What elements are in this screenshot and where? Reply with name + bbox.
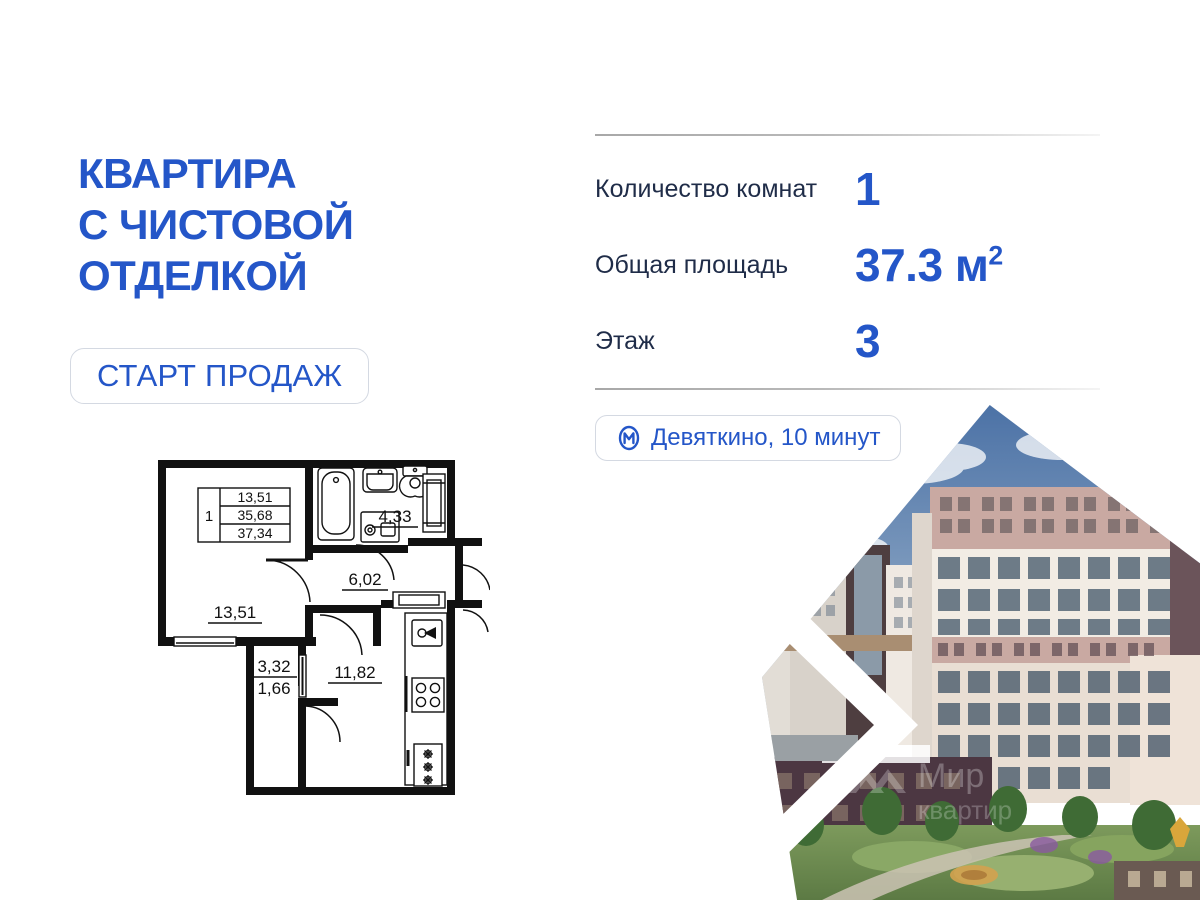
spec-value-rooms: 1 xyxy=(855,162,880,216)
spec-row-floor: Этаж 3 xyxy=(595,310,1100,372)
headline-line-2: С ЧИСТОВОЙ xyxy=(78,199,548,250)
spec-value-floor: 3 xyxy=(855,314,880,368)
metro-label: Девяткино, 10 минут xyxy=(651,424,880,452)
svg-text:4,33: 4,33 xyxy=(378,507,411,526)
area-unit-sup: 2 xyxy=(988,241,1002,271)
svg-text:37,34: 37,34 xyxy=(237,525,272,541)
headline-line-3: ОТДЕЛКОЙ xyxy=(78,250,548,301)
spec-value-area: 37.3 м2 xyxy=(855,238,1003,292)
spec-row-rooms: Количество комнат 1 xyxy=(595,158,1100,220)
metro-badge[interactable]: Девяткино, 10 минут xyxy=(595,415,901,461)
area-number: 37.3 xyxy=(855,239,943,291)
kitchen-vent-marks xyxy=(423,749,433,785)
headline-line-1: КВАРТИРА xyxy=(78,148,548,199)
svg-text:13,51: 13,51 xyxy=(237,489,272,505)
svg-text:1: 1 xyxy=(205,508,213,525)
spec-label-rooms: Количество комнат xyxy=(595,173,855,205)
divider-bottom xyxy=(595,388,1100,390)
svg-text:6,02: 6,02 xyxy=(348,570,381,589)
spec-row-area: Общая площадь 37.3 м2 xyxy=(595,234,1100,296)
spec-label-floor: Этаж xyxy=(595,325,855,357)
start-sales-badge[interactable]: СТАРТ ПРОДАЖ xyxy=(70,348,369,404)
page-title: КВАРТИРА С ЧИСТОВОЙ ОТДЕЛКОЙ xyxy=(78,148,548,302)
spec-label-area: Общая площадь xyxy=(595,249,855,281)
specs-panel: Количество комнат 1 Общая площадь 37.3 м… xyxy=(595,134,1100,390)
area-unit: м xyxy=(955,239,989,291)
svg-text:1,66: 1,66 xyxy=(257,679,290,698)
svg-text:11,82: 11,82 xyxy=(334,663,375,682)
building-photo[interactable] xyxy=(762,405,1200,900)
floor-plan[interactable]: 1 13,51 35,68 37,34 4,33 6,02 13,51 3,32… xyxy=(150,450,490,800)
metro-m-icon xyxy=(616,425,642,451)
svg-text:3,32: 3,32 xyxy=(257,657,290,676)
plan-info-stamp: 1 13,51 35,68 37,34 xyxy=(198,488,290,542)
loggia-window xyxy=(299,655,306,697)
svg-text:35,68: 35,68 xyxy=(237,507,272,523)
plan-risers xyxy=(423,474,445,532)
plan-fixture-outlines xyxy=(174,637,236,646)
listing-card: КВАРТИРА С ЧИСТОВОЙ ОТДЕЛКОЙ СТАРТ ПРОДА… xyxy=(0,0,1200,900)
svg-text:13,51: 13,51 xyxy=(214,603,257,622)
